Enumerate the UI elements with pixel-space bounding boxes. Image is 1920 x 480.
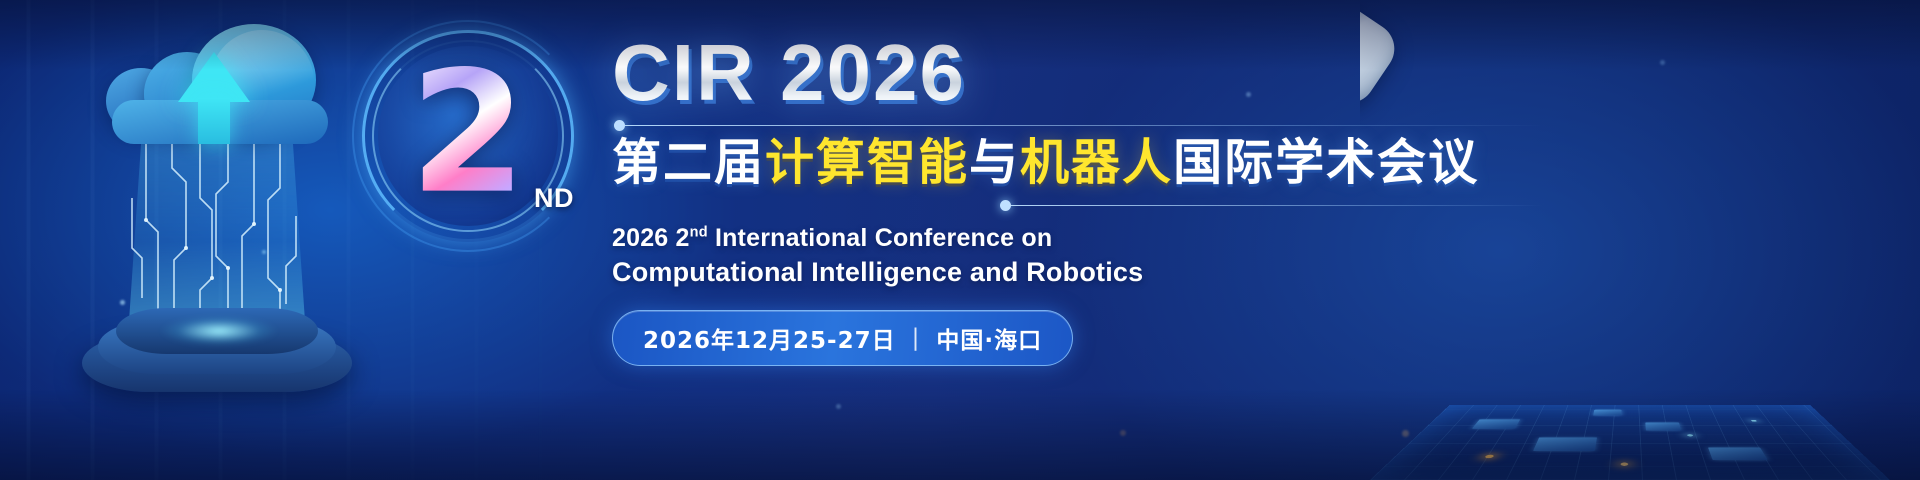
- english-title-ordinal: nd: [690, 225, 708, 241]
- date-location-badge: 2026年12月25-27日 | 中国·海口: [612, 310, 1073, 366]
- conference-banner: 2 ND CIR 2026 第二届计算智能与机器人国际学术会议 2026 2nd…: [0, 0, 1920, 480]
- robot-arm-illustration: [1360, 0, 1920, 480]
- conference-location: 中国·海口: [936, 321, 1042, 355]
- cloud-upload-illustration: [28, 6, 368, 406]
- badge-separator: |: [912, 325, 921, 351]
- divider-dot-icon: [614, 120, 625, 131]
- conference-date: 2026年12月25-27日: [643, 321, 896, 355]
- divider-dot-icon: [1000, 200, 1011, 211]
- english-title-line-1-pre: 2026 2: [612, 224, 690, 252]
- chinese-title-part-3: 与: [969, 134, 1020, 191]
- circuit-board-icon: [1370, 405, 1890, 480]
- upload-arrow-stem: [198, 98, 230, 144]
- podium-icon: [82, 306, 352, 392]
- english-title-line-1-post: International Conference on: [708, 224, 1053, 252]
- chinese-title-part-1: 第二届: [612, 134, 765, 191]
- upload-arrow-icon: [178, 52, 250, 102]
- second-edition-emblem: 2 ND: [356, 24, 580, 248]
- emblem-ordinal-suffix: ND: [534, 183, 574, 214]
- chinese-title-part-4: 机器人: [1020, 134, 1173, 191]
- chinese-title-part-2: 计算智能: [765, 134, 969, 191]
